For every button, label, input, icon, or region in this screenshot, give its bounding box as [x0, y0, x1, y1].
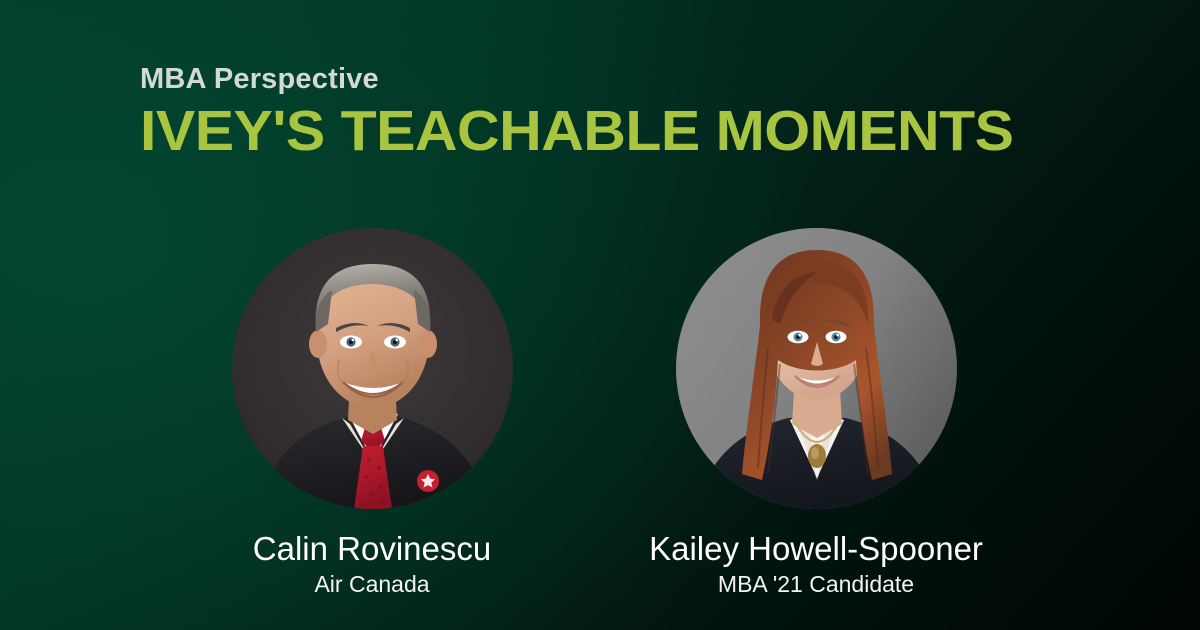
person-role: Air Canada — [150, 571, 594, 597]
person-card: Kailey Howell-Spooner MBA '21 Candidate — [594, 228, 1038, 597]
page-title: IVEY'S TEACHABLE MOMENTS — [140, 102, 1134, 162]
person-name: Calin Rovinescu — [150, 531, 594, 568]
person-card: Calin Rovinescu Air Canada — [150, 228, 594, 597]
promo-banner: MBA Perspective IVEY'S TEACHABLE MOMENTS — [0, 0, 1200, 630]
headline-block: MBA Perspective IVEY'S TEACHABLE MOMENTS — [140, 64, 1100, 162]
eyebrow-label: MBA Perspective — [140, 64, 1100, 96]
person-name: Kailey Howell-Spooner — [594, 531, 1038, 568]
headshot-kailey-howell-spooner-image — [676, 228, 957, 509]
headshot-calin-rovinescu-image — [232, 228, 513, 509]
avatar — [232, 228, 513, 509]
person-role: MBA '21 Candidate — [594, 571, 1038, 597]
avatar — [676, 228, 957, 509]
